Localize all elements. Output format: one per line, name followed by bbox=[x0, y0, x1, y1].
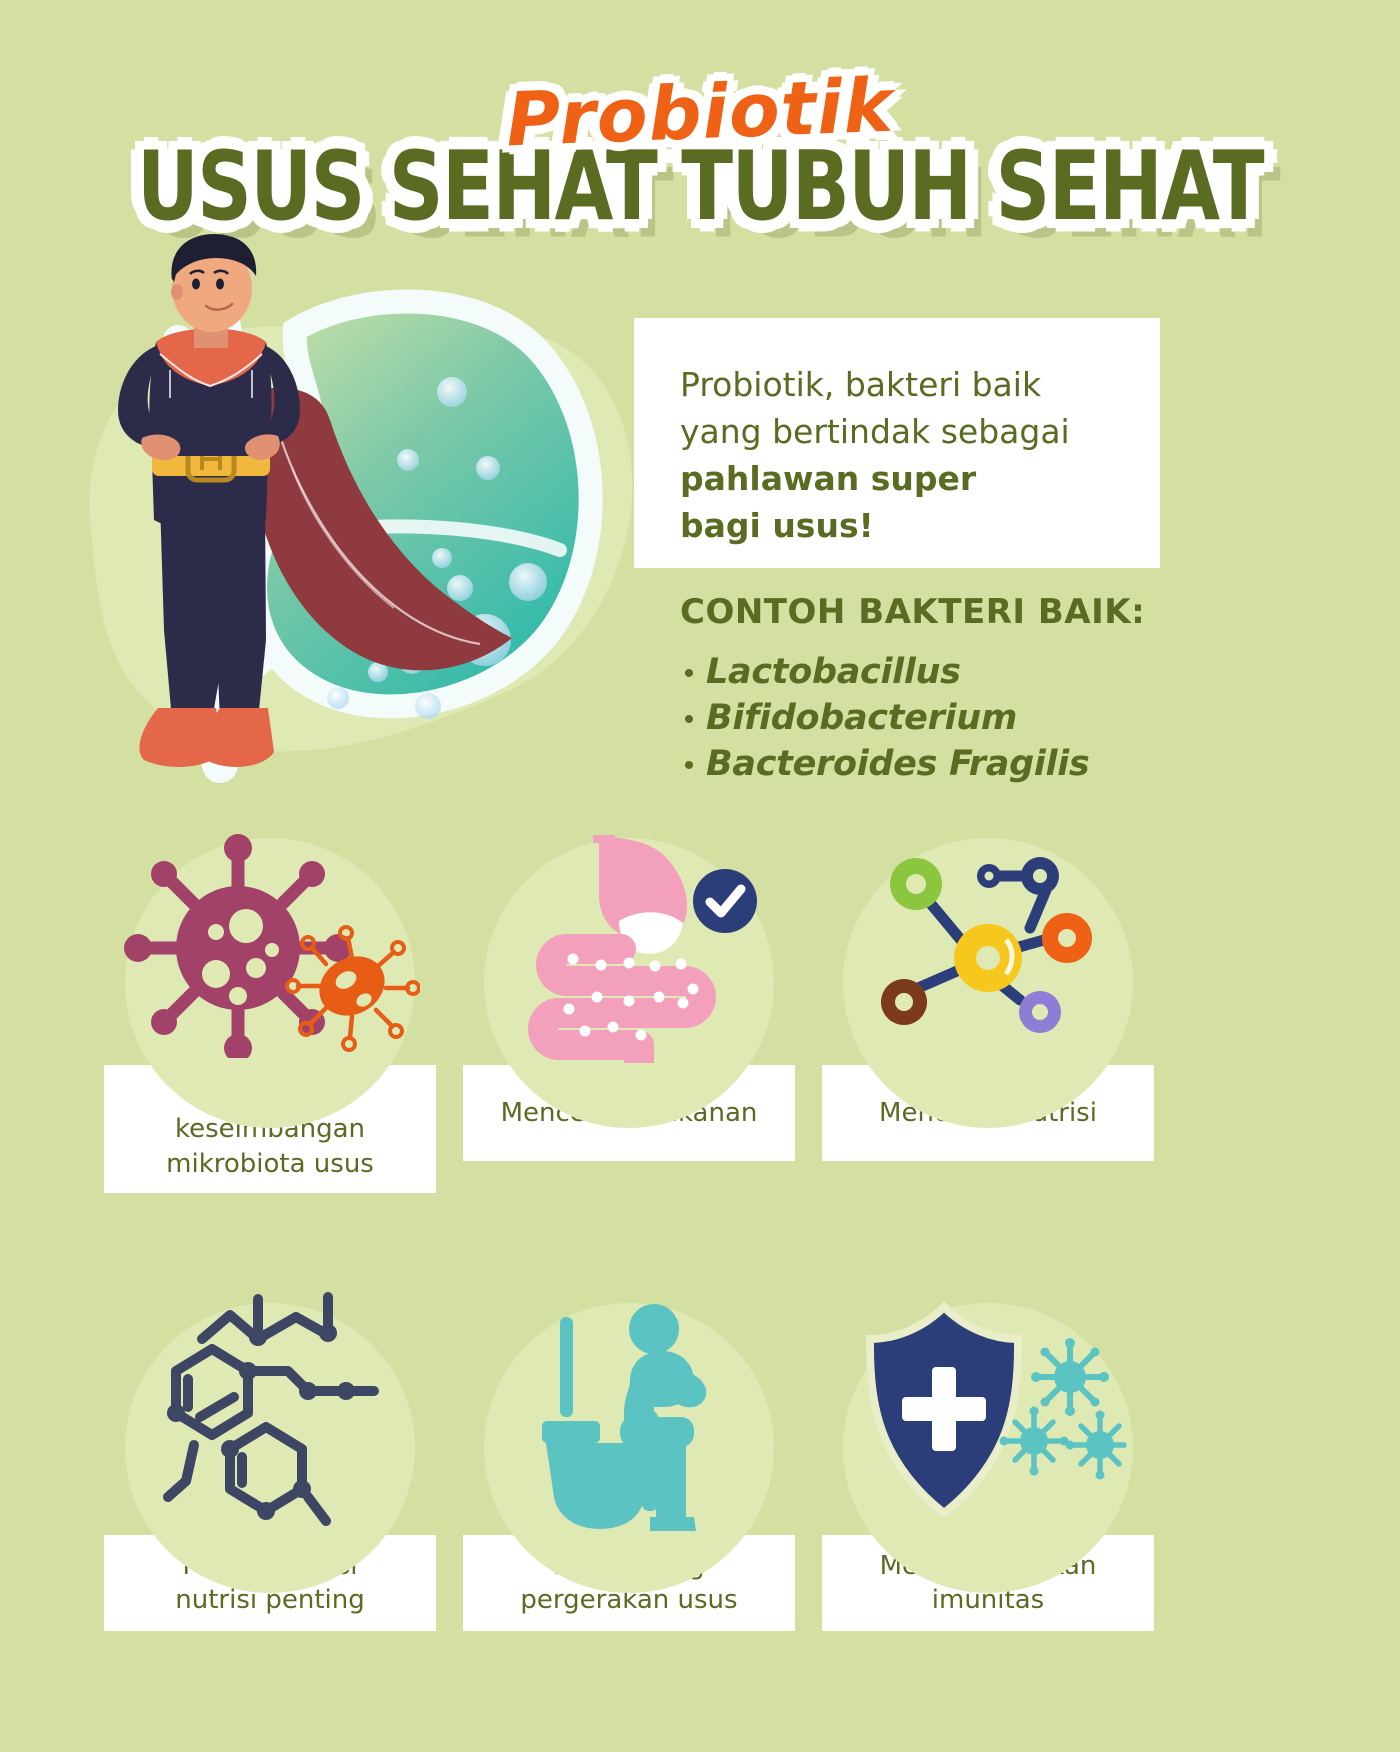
cistern bbox=[542, 1421, 600, 1443]
person-foot bbox=[650, 1517, 696, 1531]
label-line-2: mikrobiota usus bbox=[166, 1149, 374, 1179]
digestive-system-check-icon bbox=[489, 823, 769, 1063]
bullet-icon: • bbox=[672, 751, 706, 781]
benefits-grid: Menjaga keseimbanganmikrobiota usus bbox=[104, 820, 1154, 1631]
title-script-word: Probiotik bbox=[460, 49, 939, 169]
infographic-poster: Probiotik USUS SEHAT TUBUH SEHAT bbox=[0, 0, 1400, 1752]
list-item: • Bifidobacterium bbox=[672, 698, 1172, 738]
hero-illustration bbox=[60, 220, 660, 820]
intro-emphasis-2: bagi usus! bbox=[680, 506, 874, 545]
ear bbox=[171, 284, 183, 300]
bacteria-name: Lactobacillus bbox=[706, 652, 961, 692]
intro-line-1: Probiotik, bakteri baik bbox=[680, 362, 1120, 409]
intro-emphasis-1: pahlawan super bbox=[680, 459, 976, 498]
check-badge bbox=[693, 869, 757, 933]
card-artwork bbox=[463, 820, 795, 1065]
benefit-card: Menjaga keseimbanganmikrobiota usus bbox=[104, 820, 436, 1193]
card-artwork bbox=[104, 820, 436, 1065]
poster-title: Probiotik USUS SEHAT TUBUH SEHAT bbox=[0, 58, 1400, 240]
person-head bbox=[629, 1304, 679, 1354]
bacteria-list: • Lactobacillus • Bifidobacterium • Bact… bbox=[672, 652, 1172, 790]
virus-top bbox=[1031, 1338, 1109, 1416]
intro-paragraph: Probiotik, bakteri baik yang bertindak s… bbox=[680, 362, 1120, 549]
benefit-card: Mengoptimalkanimunitas bbox=[822, 1285, 1154, 1631]
benefit-card: Memproduksinutrisi penting bbox=[104, 1285, 436, 1631]
nutrient-molecule-icon bbox=[848, 828, 1128, 1058]
list-item: • Bacteroides Fragilis bbox=[672, 744, 1172, 784]
bullet-icon: • bbox=[672, 705, 706, 735]
flush-pole bbox=[560, 1317, 573, 1417]
shield-plus-immunity-icon bbox=[848, 1285, 1128, 1535]
bacteria-name: Bifidobacterium bbox=[706, 698, 1017, 738]
list-item: • Lactobacillus bbox=[672, 652, 1172, 692]
chemical-structure-icon bbox=[130, 1285, 410, 1535]
toilet-person-icon bbox=[504, 1285, 754, 1535]
card-artwork bbox=[463, 1285, 795, 1535]
eye-right bbox=[216, 279, 224, 290]
intro-textbox: Probiotik, bakteri baik yang bertindak s… bbox=[634, 318, 1160, 568]
leg-left bbox=[160, 502, 226, 720]
benefits-row-2: Memproduksinutrisi penting bbox=[104, 1285, 1154, 1631]
virus-right bbox=[1066, 1411, 1125, 1480]
person-leg bbox=[656, 1443, 686, 1529]
leg-right bbox=[216, 502, 266, 720]
person-thigh bbox=[620, 1417, 694, 1447]
card-artwork bbox=[104, 1285, 436, 1535]
benefit-card: Mencerna nutrisi bbox=[822, 820, 1154, 1193]
microbiota-bacteria-icon bbox=[120, 828, 420, 1058]
molecule-atoms bbox=[881, 857, 1092, 1033]
toilet-bowl bbox=[546, 1443, 654, 1529]
eye-left bbox=[192, 279, 200, 290]
benefit-card: Mendukungpergerakan usus bbox=[463, 1285, 795, 1631]
card-artwork bbox=[822, 1285, 1154, 1535]
bullet-icon: • bbox=[672, 659, 706, 689]
card-artwork bbox=[822, 820, 1154, 1065]
bacteria-heading: CONTOH BAKTERI BAIK: bbox=[680, 592, 1145, 632]
bacteria-name: Bacteroides Fragilis bbox=[706, 744, 1089, 784]
virus-large bbox=[124, 834, 352, 1058]
benefit-card: Mencerna makanan bbox=[463, 820, 795, 1193]
benefits-row-1: Menjaga keseimbanganmikrobiota usus bbox=[104, 820, 1154, 1193]
intro-line-2: yang bertindak sebagai bbox=[680, 409, 1120, 456]
